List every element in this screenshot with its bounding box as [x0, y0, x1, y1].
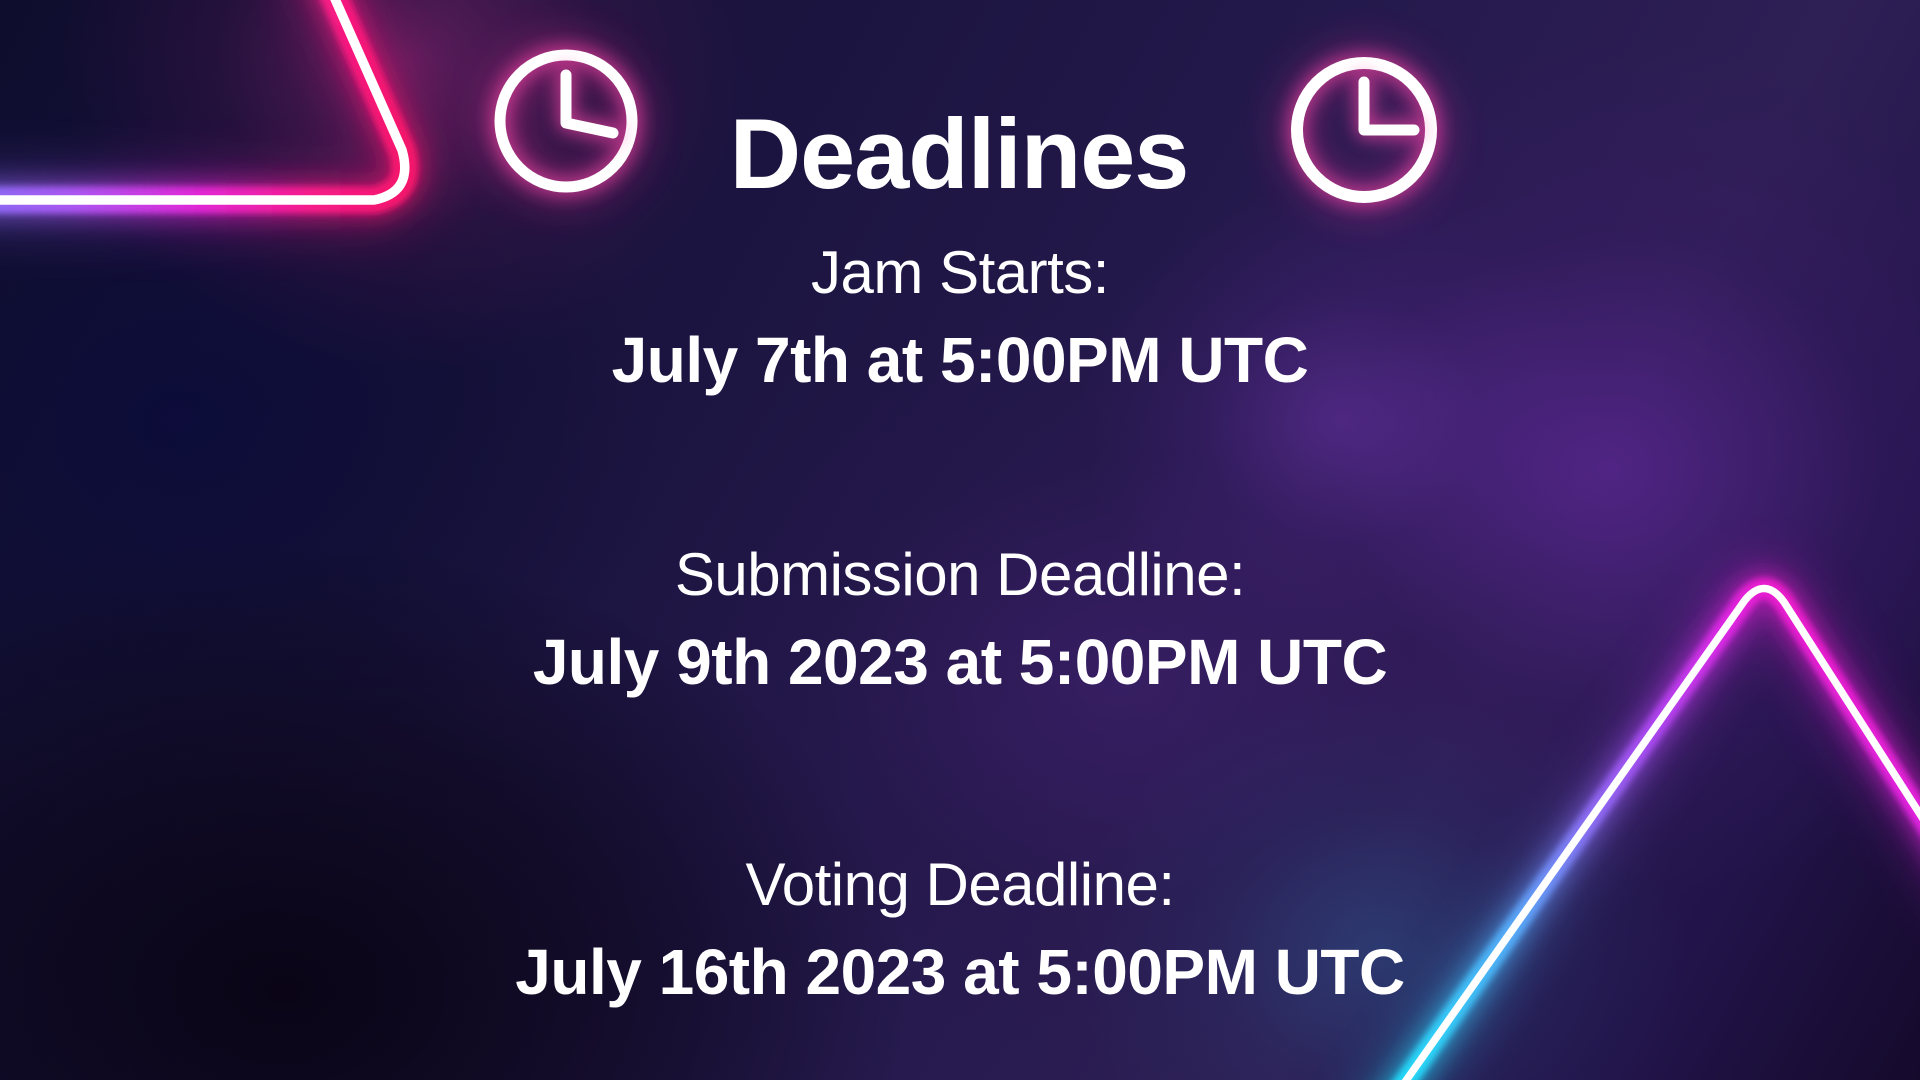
deadlines-poster: Deadlines Jam Starts: July 7th at 5:00PM…: [0, 0, 1920, 1080]
deadline-label: Submission Deadline:: [0, 540, 1920, 611]
deadline-label: Voting Deadline:: [0, 850, 1920, 921]
page-title: Deadlines: [730, 104, 1189, 203]
clock-icon-right-slot: [1264, 87, 1398, 221]
deadline-value: July 7th at 5:00PM UTC: [0, 323, 1920, 399]
deadline-value: July 16th 2023 at 5:00PM UTC: [0, 935, 1920, 1011]
deadline-entry-voting: Voting Deadline: July 16th 2023 at 5:00P…: [0, 850, 1920, 1010]
deadline-label: Jam Starts:: [0, 238, 1920, 309]
deadline-value: July 9th 2023 at 5:00PM UTC: [0, 625, 1920, 701]
deadline-entry-jam-starts: Jam Starts: July 7th at 5:00PM UTC: [0, 238, 1920, 398]
title-row: Deadlines: [0, 38, 1920, 270]
poster-content: Deadlines Jam Starts: July 7th at 5:00PM…: [0, 0, 1920, 1080]
clock-icon-left-slot: [522, 88, 654, 220]
deadline-entry-submission: Submission Deadline: July 9th 2023 at 5:…: [0, 540, 1920, 700]
